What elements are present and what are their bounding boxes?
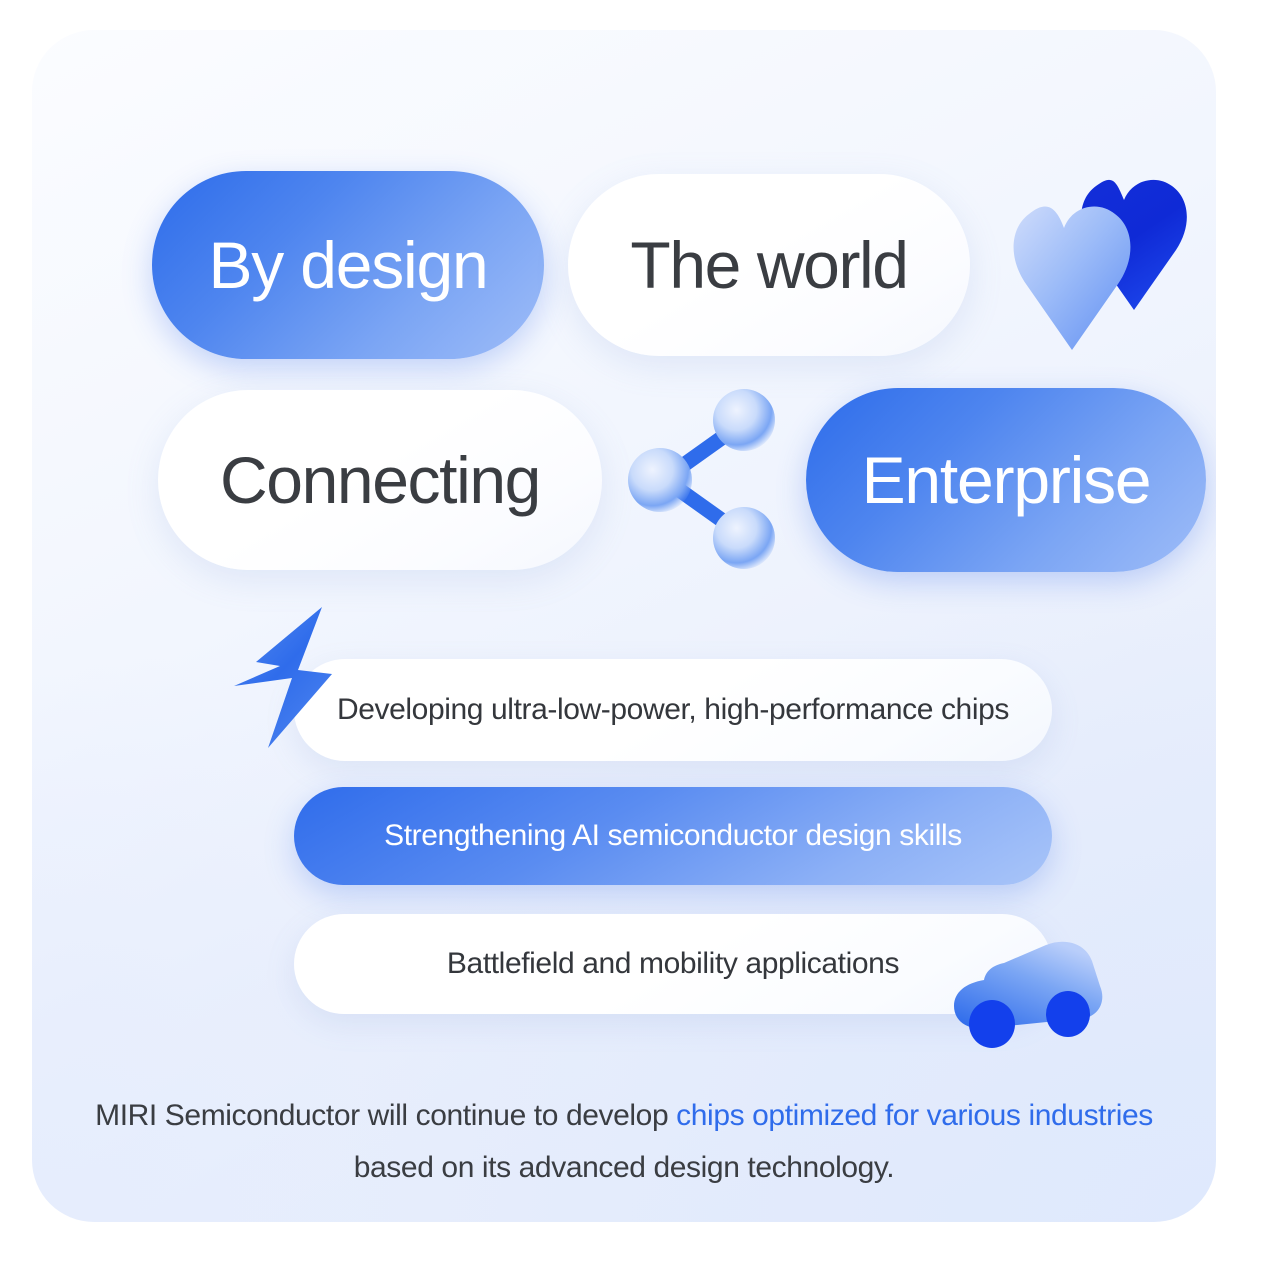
- headline-pill-label: By design: [208, 227, 487, 303]
- caption: MIRI Semiconductor will continue to deve…: [92, 1090, 1156, 1194]
- caption-line-2: based on its advanced design technology.: [92, 1142, 1156, 1194]
- feature-item-label: Developing ultra-low-power, high-perform…: [337, 693, 1009, 727]
- caption-lead: MIRI Semiconductor will continue to deve…: [95, 1099, 676, 1132]
- headline-pill-the-world[interactable]: The world: [568, 174, 970, 356]
- car-icon: [940, 926, 1116, 1050]
- feature-item-label: Strengthening AI semiconductor design sk…: [384, 819, 962, 853]
- promo-card: By design The world: [32, 30, 1216, 1222]
- feature-item[interactable]: Strengthening AI semiconductor design sk…: [294, 787, 1052, 885]
- caption-highlight: chips optimized for various industries: [676, 1099, 1153, 1132]
- headline-pill-label: Enterprise: [862, 442, 1151, 518]
- headline-pill-label: Connecting: [220, 442, 540, 518]
- heart-icon: [984, 166, 1212, 356]
- screenshot-root: By design The world: [0, 0, 1280, 1280]
- headline-pill-by-design[interactable]: By design: [152, 171, 544, 359]
- headline-pill-enterprise[interactable]: Enterprise: [806, 388, 1206, 572]
- share-icon: [620, 382, 792, 576]
- feature-item[interactable]: Developing ultra-low-power, high-perform…: [294, 659, 1052, 761]
- headline-pill-label: The world: [630, 227, 907, 303]
- feature-item[interactable]: Battlefield and mobility applications: [294, 914, 1052, 1014]
- lightning-bolt-icon: [228, 604, 338, 752]
- headline-pill-connecting[interactable]: Connecting: [158, 390, 602, 570]
- feature-item-label: Battlefield and mobility applications: [447, 947, 899, 981]
